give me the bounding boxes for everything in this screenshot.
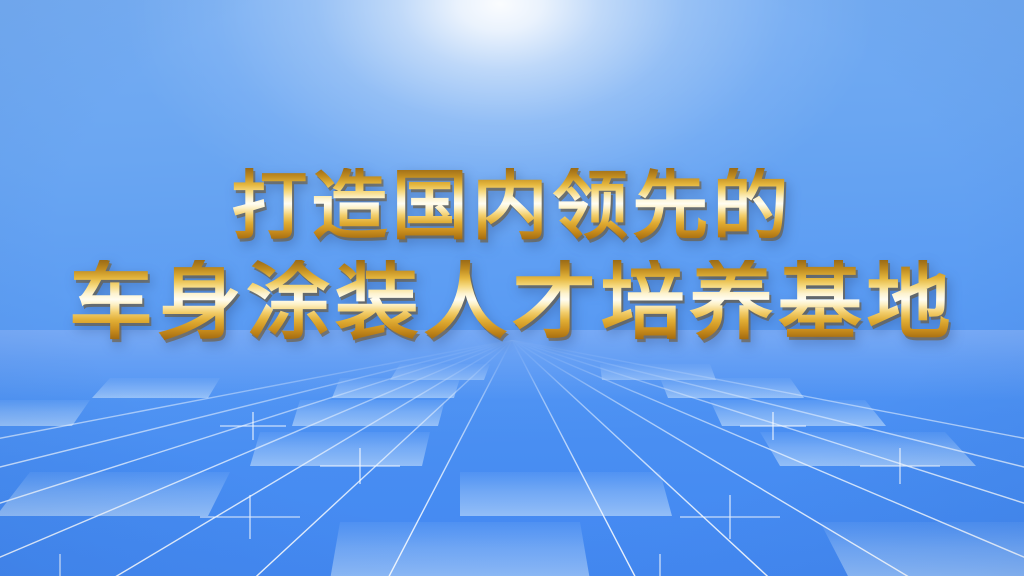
subtitle: ——庞贝捷（PPG）汽车涂装工程师学院 [0,366,1024,411]
title-block: 打造国内领先的 车身涂装人才培养基地 ——庞贝捷（PPG）汽车涂装工程师学院 [0,168,1024,411]
headline-line-1: 打造国内领先的 [0,168,1024,244]
title-slide: 打造国内领先的 车身涂装人才培养基地 ——庞贝捷（PPG）汽车涂装工程师学院 [0,0,1024,576]
headline-line-2: 车身涂装人才培养基地 [0,260,1024,344]
